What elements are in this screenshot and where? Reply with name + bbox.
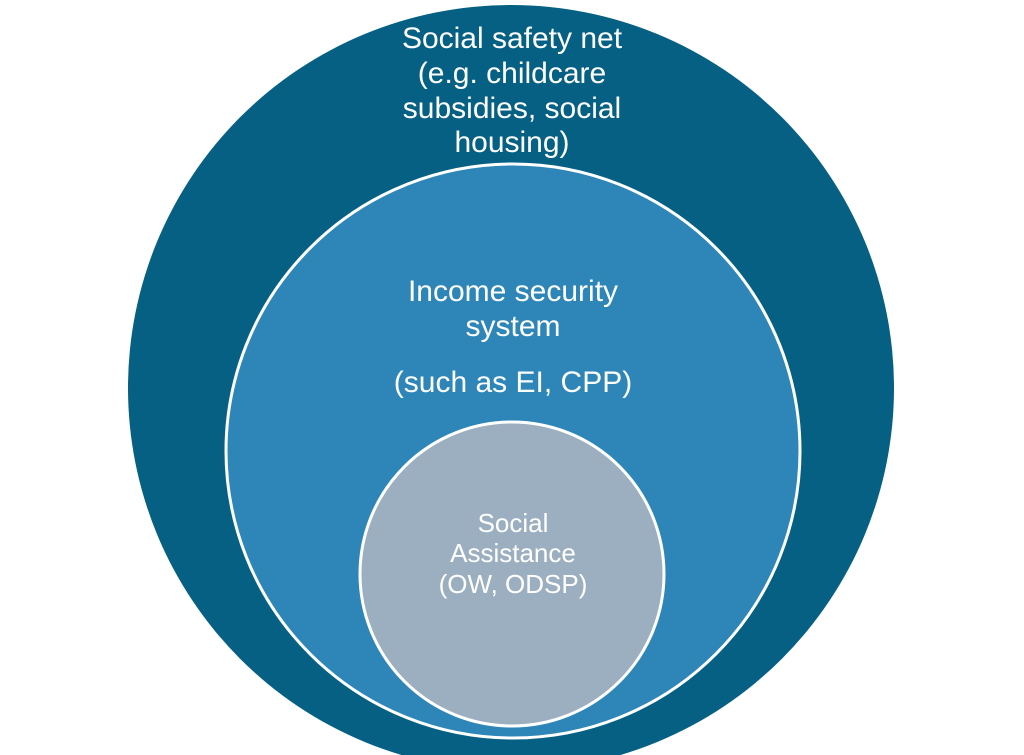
- label-social-assistance: Social Assistance (OW, ODSP): [378, 508, 648, 599]
- label-social-safety-net: Social safety net (e.g. childcare subsid…: [297, 22, 727, 161]
- label-income-security-system-main: Income security system: [408, 275, 618, 343]
- label-income-security-system-sub: (such as EI, CPP): [300, 366, 726, 401]
- nested-circles-diagram: Social safety net (e.g. childcare subsid…: [0, 0, 1024, 755]
- label-income-security-system: Income security system (such as EI, CPP): [300, 240, 726, 436]
